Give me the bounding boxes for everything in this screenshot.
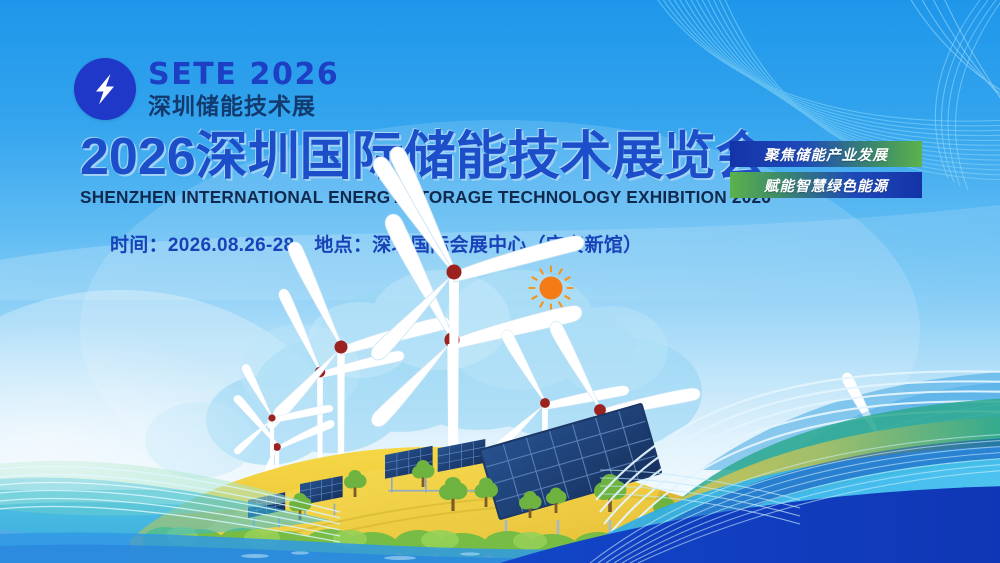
exhibition-poster: SETE 2026 深圳储能技术展 2026深圳国际储能技术展览会 SHENZH… <box>0 0 1000 563</box>
renewable-energy-island-illustration <box>0 0 1000 563</box>
